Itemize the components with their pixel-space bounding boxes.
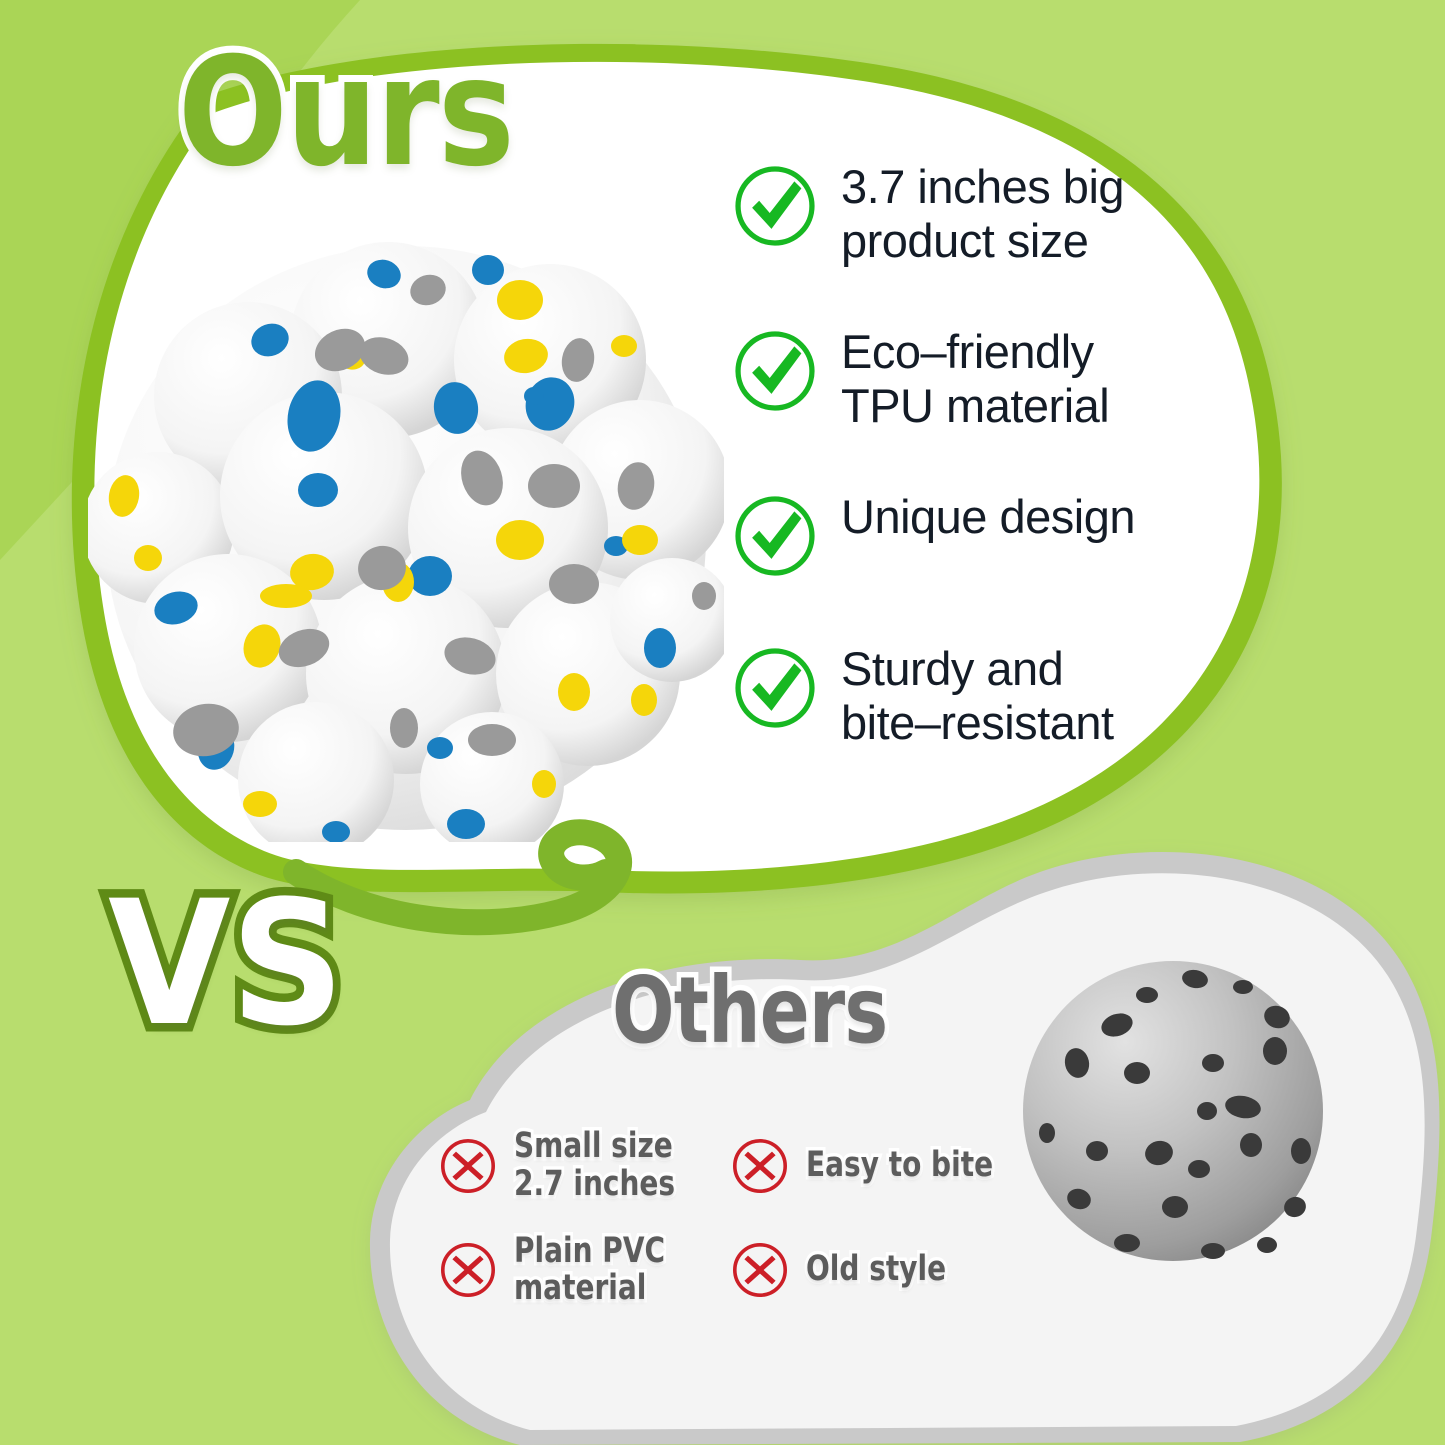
x-circle-icon xyxy=(730,1136,790,1196)
feature-item: 3.7 inches big product size xyxy=(731,158,1201,270)
feature-item: Unique design xyxy=(731,488,1201,580)
others-product-ball-image xyxy=(1017,955,1329,1267)
feature-text: Unique design xyxy=(841,488,1135,544)
check-circle-icon xyxy=(731,644,819,732)
x-circle-icon xyxy=(438,1240,498,1300)
check-circle-icon xyxy=(731,162,819,250)
feature-item: Eco–friendly TPU material xyxy=(731,323,1201,435)
ours-title: Ours xyxy=(178,38,513,188)
drawback-row: Small size 2.7 inches Easy to bite xyxy=(438,1128,1013,1204)
ours-feature-list: 3.7 inches big product size Eco–friendly… xyxy=(731,158,1201,749)
x-circle-icon xyxy=(438,1136,498,1196)
feature-line-1: 3.7 inches big xyxy=(841,160,1124,214)
drawback-item: Easy to bite xyxy=(730,1128,1013,1204)
versus-label: VS xyxy=(108,878,344,1050)
drawback-line-1: Small size xyxy=(514,1128,675,1166)
feature-line-2: product size xyxy=(841,214,1124,268)
feature-line-1: Sturdy and xyxy=(841,642,1114,696)
drawback-item: Plain PVC material xyxy=(438,1233,730,1309)
feature-line-2: TPU material xyxy=(841,379,1109,433)
drawback-row: Plain PVC material Old style xyxy=(438,1233,1013,1309)
check-circle-icon xyxy=(731,492,819,580)
drawback-text: Old style xyxy=(806,1251,946,1289)
check-circle-icon xyxy=(731,327,819,415)
feature-item: Sturdy and bite–resistant xyxy=(731,640,1201,749)
drawback-line-2: material xyxy=(514,1270,665,1308)
drawback-text: Small size 2.7 inches xyxy=(514,1128,675,1204)
drawback-text: Plain PVC material xyxy=(514,1233,665,1309)
feature-text: 3.7 inches big product size xyxy=(841,158,1124,267)
feature-text: Eco–friendly TPU material xyxy=(841,323,1109,432)
x-circle-icon xyxy=(730,1240,790,1300)
drawback-item: Small size 2.7 inches xyxy=(438,1128,730,1204)
feature-line-1: Eco–friendly xyxy=(841,325,1109,379)
others-title: Others xyxy=(612,965,887,1057)
ours-product-ball-image xyxy=(88,228,724,842)
drawback-line-2: 2.7 inches xyxy=(514,1166,675,1204)
feature-line-2: bite–resistant xyxy=(841,696,1114,750)
feature-text: Sturdy and bite–resistant xyxy=(841,640,1114,749)
drawback-item: Old style xyxy=(730,1233,1013,1309)
drawback-text: Easy to bite xyxy=(806,1147,993,1185)
feature-line-1: Unique design xyxy=(841,490,1135,544)
drawback-line-1: Plain PVC xyxy=(514,1233,665,1271)
others-drawback-list: Small size 2.7 inches Easy to bite xyxy=(438,1128,1013,1308)
drawback-line-1: Easy to bite xyxy=(806,1147,993,1185)
drawback-line-1: Old style xyxy=(806,1251,946,1289)
infographic-canvas: Ours xyxy=(0,0,1445,1445)
